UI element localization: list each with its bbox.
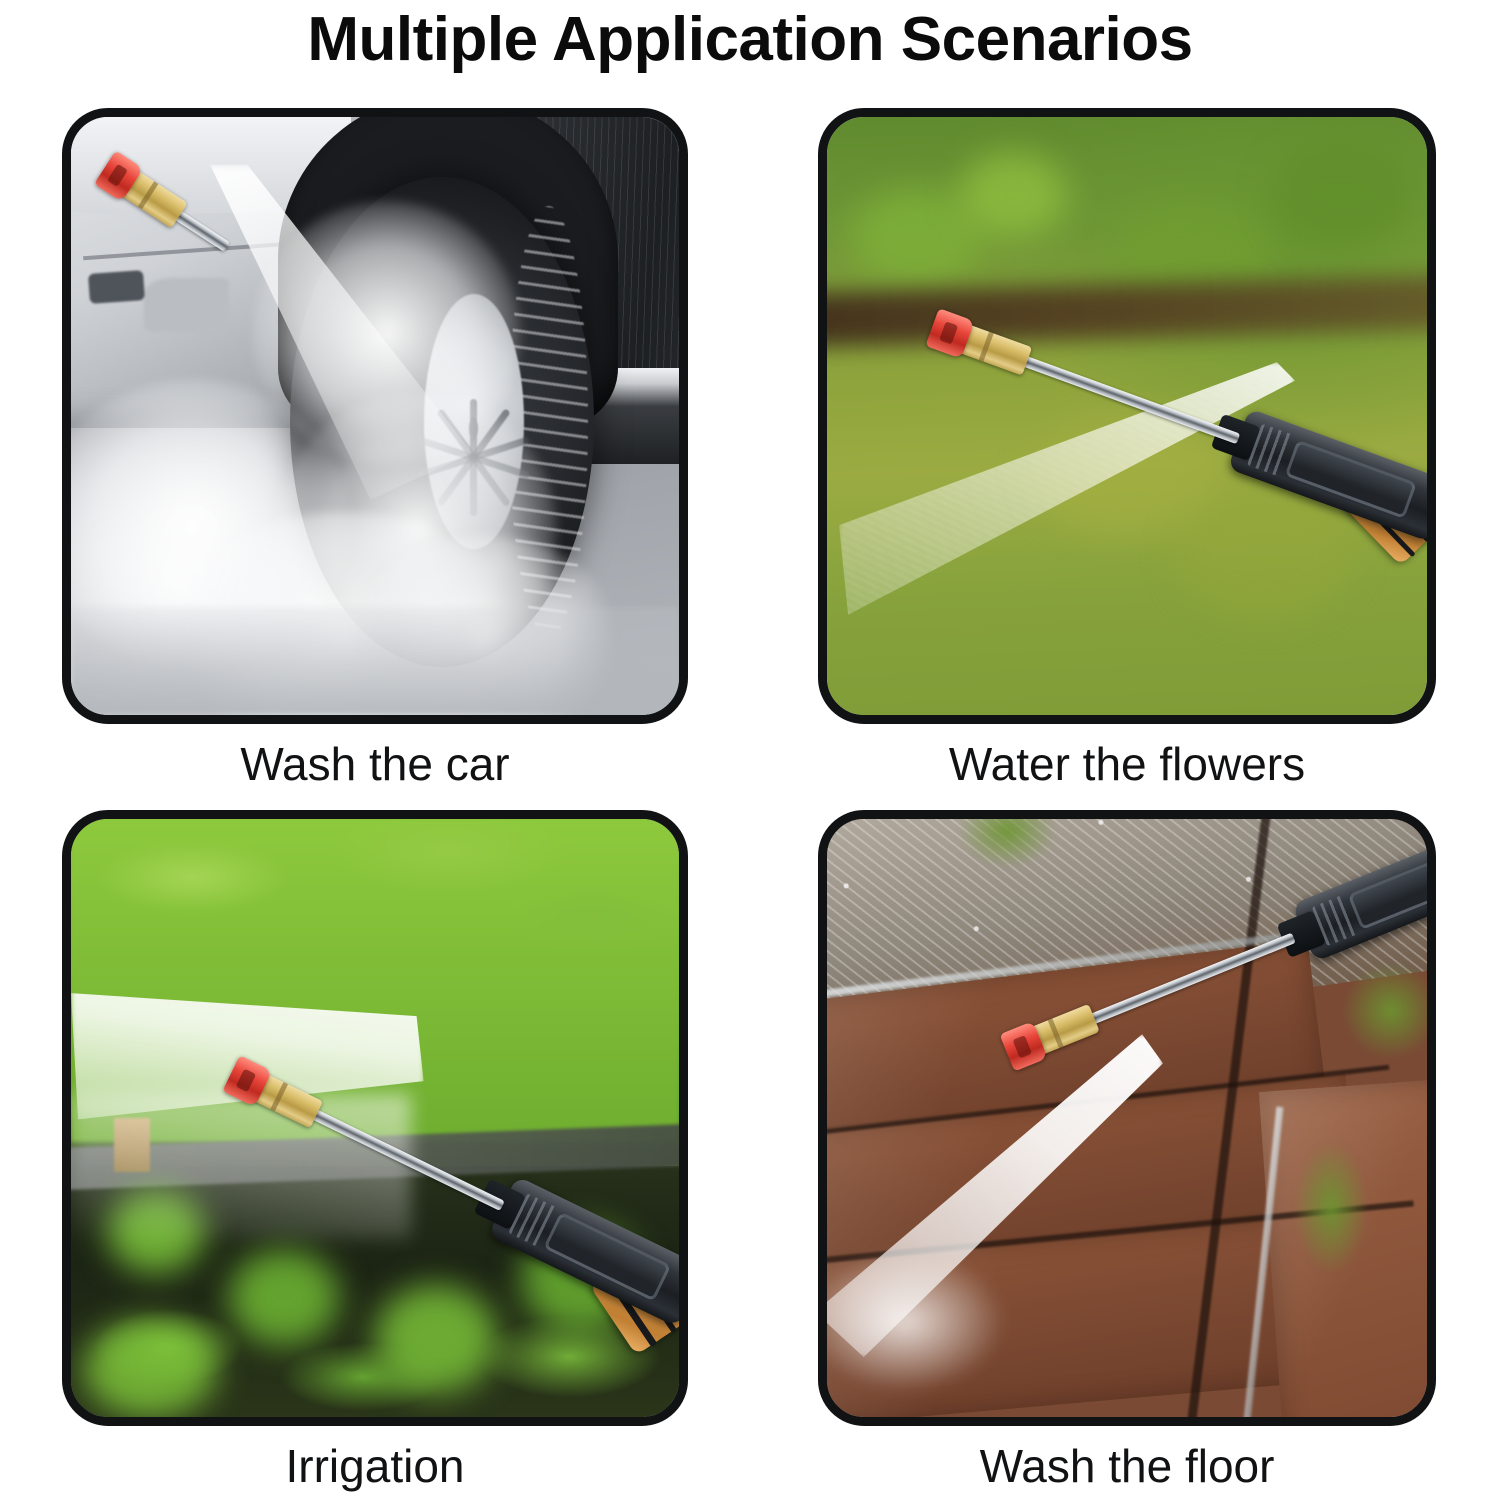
photo-wash-floor [827, 819, 1427, 1417]
grass-blotch [1175, 488, 1355, 620]
page-title: Multiple Application Scenarios [0, 2, 1500, 78]
lance [1020, 355, 1240, 444]
panel-frame [818, 108, 1436, 724]
wet-ground [71, 607, 679, 715]
panel-wash-floor [818, 810, 1436, 1426]
caption-wash-floor: Wash the floor [818, 1438, 1436, 1494]
photo-water-flowers [827, 117, 1427, 715]
water-splash [827, 1250, 1007, 1394]
panel-water-flowers [818, 108, 1436, 724]
plant-clump [83, 1321, 217, 1417]
grass-blotch [959, 153, 1067, 237]
caption-water-flowers: Water the flowers [818, 736, 1436, 792]
panel-wash-car [62, 108, 688, 724]
caption-wash-car: Wash the car [62, 736, 688, 792]
car-door-handle [88, 271, 145, 305]
panel-frame [62, 108, 688, 724]
moss-patch [959, 819, 1055, 867]
lance [172, 208, 229, 251]
background-band [827, 275, 1427, 347]
scenario-collage: Multiple Application Scenarios [0, 0, 1500, 1500]
plant-clump [229, 1250, 338, 1346]
moss-patch [1295, 1142, 1367, 1274]
caption-irrigation: Irrigation [62, 1438, 688, 1494]
car-mirror [144, 278, 229, 332]
panel-frame [818, 810, 1436, 1426]
moss-patch [1343, 963, 1427, 1059]
photo-irrigation [71, 819, 679, 1417]
plant-clump [375, 1285, 497, 1393]
panel-frame [62, 810, 688, 1426]
grass-blotch [1271, 141, 1415, 249]
panel-irrigation [62, 810, 688, 1426]
photo-wash-car [71, 117, 679, 715]
